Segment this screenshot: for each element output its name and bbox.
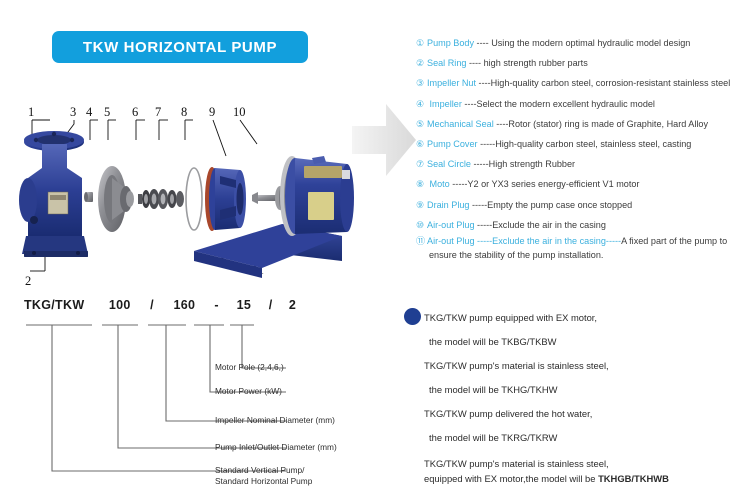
part-number: ⑪	[416, 235, 427, 249]
callout-10: 10	[233, 105, 246, 119]
part-name: Air-out Plug	[427, 220, 475, 230]
callout-8: 8	[181, 105, 187, 119]
label-standard-horizontal-pump: Standard Horizontal Pump	[215, 476, 312, 487]
part-number: ②	[416, 53, 427, 73]
callout-7: 7	[155, 105, 161, 119]
part-desc-continuation: ensure the stability of the pump install…	[416, 249, 756, 263]
part-item-7: ⑦Seal Circle -----High strength Rubber	[416, 154, 756, 174]
part-item-3: ③Impeller Nut ----High-quality carbon st…	[416, 73, 756, 93]
variant-line-2: the model will be TKBG/TKBW	[424, 330, 756, 354]
flow-arrow-icon	[352, 102, 418, 178]
part-name: Seal Ring	[427, 58, 466, 68]
part-name: Air-out Plug -----Exclude the air in the…	[427, 236, 621, 246]
part-name: Pump Cover	[427, 139, 478, 149]
parts-description-list: ①Pump Body ---- Using the modern optimal…	[416, 33, 756, 262]
exploded-pump-diagram: 1 2 3 4 5 6 7 8 9 10 11	[12, 96, 362, 286]
part-desc: Rotor (stator) ring is made of Graphite,…	[508, 119, 708, 129]
variant-line-7: TKG/TKW pump's material is stainless ste…	[424, 450, 756, 471]
variant-line-8-prefix: equipped with EX motor,the model will be	[424, 473, 598, 484]
pump-datasheet-page: TKW HORIZONTAL PUMP	[0, 0, 756, 500]
part-name: Mechanical Seal	[427, 119, 494, 129]
bullet-dot-icon	[404, 308, 421, 325]
variant-line-4: the model will be TKHG/TKHW	[424, 378, 756, 402]
part-number: ⑩	[416, 215, 427, 235]
part-number: ⑤	[416, 114, 427, 134]
part-dash: -----	[478, 139, 496, 149]
part-dash: ----	[462, 99, 477, 109]
impeller-nut-part	[84, 192, 93, 202]
callout-5: 5	[104, 105, 110, 119]
part-desc: Using the modern optimal hydraulic model…	[491, 38, 690, 48]
part-name: Impeller Nut	[427, 78, 476, 88]
model-variants-list: TKG/TKW pump equipped with EX motor, the…	[424, 306, 756, 486]
pump-cover-part	[205, 167, 246, 231]
seal-circle-part	[186, 168, 202, 230]
part-desc: Exclude the air in the casing	[492, 220, 606, 230]
part-item-10: ⑩Air-out Plug -----Exclude the air in th…	[416, 215, 756, 235]
part-number: ①	[416, 33, 427, 53]
part-dash: -----	[471, 159, 489, 169]
part-dash: -----	[450, 179, 468, 189]
motor-terminal-box	[308, 192, 334, 220]
variant-line-8-model: TKHGB/TKHWB	[598, 473, 669, 484]
part-desc: A fixed part of the pump to	[621, 236, 727, 246]
model-nomenclature-diagram: TKG/TKW 100 / 160 - 15 / 2	[14, 298, 394, 493]
part-item-4: ④ Impeller ----Select the modern excelle…	[416, 94, 756, 114]
mechanical-seal-part	[138, 189, 184, 209]
callout-3: 3	[70, 105, 76, 119]
part-desc: Y2 or YX3 series energy-efficient V1 mot…	[467, 179, 639, 189]
callout-6: 6	[132, 105, 138, 119]
part-item-5: ⑤Mechanical Seal ----Rotor (stator) ring…	[416, 114, 756, 134]
part-item-8: ⑧ Moto -----Y2 or YX3 series energy-effi…	[416, 174, 756, 194]
variant-line-5: TKG/TKW pump delivered the hot water,	[424, 402, 756, 426]
label-impeller-diameter: Impeller Nominal Diameter (mm)	[215, 415, 335, 426]
part-desc: High strength Rubber	[489, 159, 575, 169]
part-item-1: ①Pump Body ---- Using the modern optimal…	[416, 33, 756, 53]
part-item-2: ②Seal Ring ---- high strength rubber par…	[416, 53, 756, 73]
page-title-banner: TKW HORIZONTAL PUMP	[52, 31, 308, 63]
callout-1: 1	[28, 105, 34, 119]
label-motor-pole: Motor Pole (2,4,6,)	[215, 362, 284, 373]
callout-4: 4	[86, 105, 93, 119]
variant-line-1: TKG/TKW pump equipped with EX motor,	[424, 306, 756, 330]
part-dash: ----	[494, 119, 509, 129]
part-number: ③	[416, 73, 427, 93]
part-dash: ----	[466, 58, 483, 68]
variant-line-3: TKG/TKW pump's material is stainless ste…	[424, 354, 756, 378]
label-standard-vertical-pump: Standard Vertical Pump/	[215, 465, 304, 476]
motor-nameplate	[304, 166, 342, 178]
part-desc: High-quality carbon steel, stainless ste…	[495, 139, 691, 149]
callout-2: 2	[25, 274, 31, 286]
part-number: ⑥	[416, 134, 427, 154]
part-name: Pump Body	[427, 38, 474, 48]
part-number: ⑦	[416, 154, 427, 174]
part-number: ④	[416, 94, 427, 114]
page-title: TKW HORIZONTAL PUMP	[83, 39, 277, 56]
part-number: ⑧	[416, 174, 427, 194]
part-name: Seal Circle	[427, 159, 471, 169]
part-desc: high strength rubber parts	[484, 58, 588, 68]
part-name: Moto	[427, 179, 450, 189]
part-dash: ----	[474, 38, 491, 48]
part-name: Impeller	[427, 99, 462, 109]
part-name: Drain Plug	[427, 200, 469, 210]
nomenclature-leader-lines	[14, 298, 394, 493]
callout-9: 9	[209, 105, 215, 119]
variant-line-6: the model will be TKRG/TKRW	[424, 426, 756, 450]
part-dash: -----	[469, 200, 487, 210]
part-dash: -----	[475, 220, 493, 230]
part-item-9: ⑨Drain Plug -----Empty the pump case onc…	[416, 195, 756, 215]
variant-line-8: equipped with EX motor,the model will be…	[424, 471, 756, 486]
part-item-11: ⑪Air-out Plug -----Exclude the air in th…	[416, 235, 756, 262]
pump-body-part	[19, 131, 88, 257]
part-desc: Select the modern excellent hydraulic mo…	[477, 99, 655, 109]
part-number: ⑨	[416, 195, 427, 215]
label-inlet-diameter: Pump Inlet/Outlet Diameter (mm)	[215, 442, 337, 453]
part-desc: Empty the pump case once stopped	[487, 200, 632, 210]
part-desc: High-quality carbon steel, corrosion-res…	[491, 78, 731, 88]
part-dash: ----	[476, 78, 491, 88]
label-motor-power: Motor Power (kW)	[215, 386, 282, 397]
impeller-part	[98, 166, 134, 232]
part-item-6: ⑥Pump Cover -----High-quality carbon ste…	[416, 134, 756, 154]
